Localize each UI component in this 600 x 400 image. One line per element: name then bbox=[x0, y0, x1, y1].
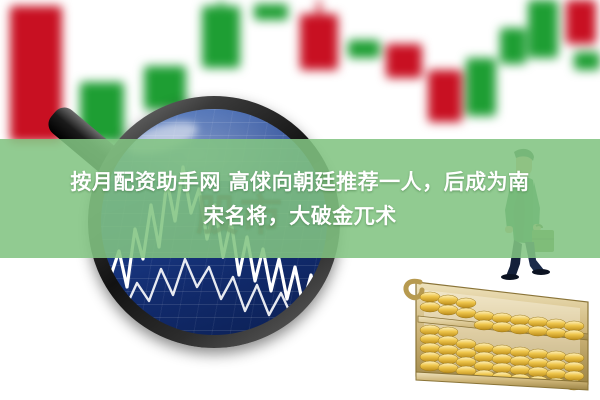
abacus-svg bbox=[398, 272, 598, 396]
golden-abacus bbox=[398, 272, 598, 396]
candle-down bbox=[428, 70, 462, 122]
candle-down bbox=[566, 0, 596, 44]
candle-up bbox=[528, 0, 558, 58]
headline-line-1: 按月配资助手网 高俅向朝廷推荐一人，后成为南 bbox=[70, 167, 529, 197]
headline: 按月配资助手网 高俅向朝廷推荐一人，后成为南 宋名将，大破金兀术 bbox=[0, 139, 600, 258]
candle-up bbox=[466, 58, 496, 116]
candle-down bbox=[386, 44, 422, 78]
candle-wick bbox=[317, 0, 321, 20]
banner-image: 股市 按月配资助手网 高俅向朝廷推荐一人，后成为南 宋名将，大破金兀术 bbox=[0, 0, 600, 400]
candle-wick bbox=[219, 0, 223, 16]
candle-up bbox=[574, 52, 600, 70]
candle-up bbox=[500, 28, 526, 64]
candle-up bbox=[348, 40, 380, 58]
candle-down bbox=[300, 14, 338, 70]
candle-up bbox=[254, 4, 288, 20]
headline-line-2: 宋名将，大破金兀术 bbox=[203, 201, 397, 231]
